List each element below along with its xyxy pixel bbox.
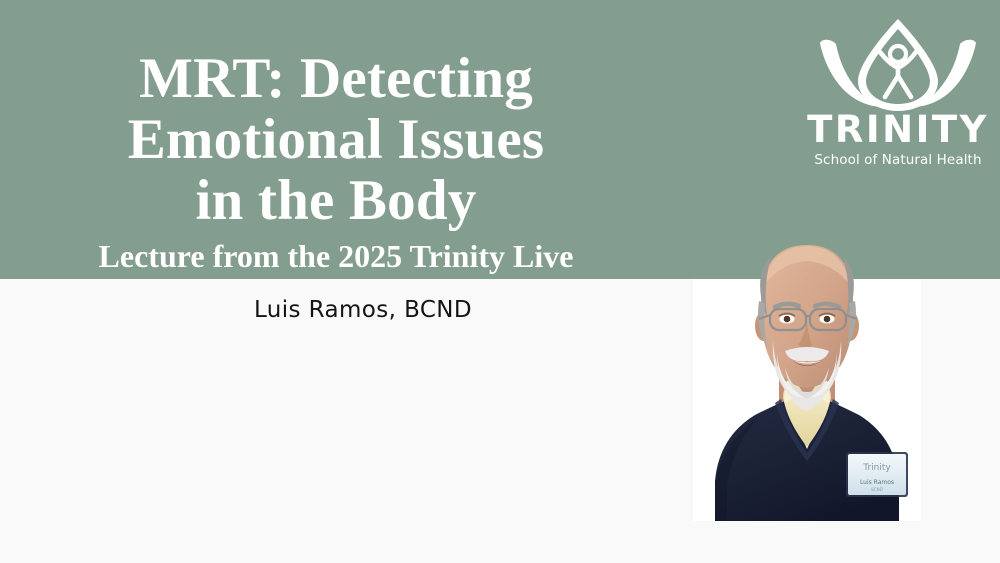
svg-text:BCND: BCND (871, 487, 883, 492)
logo-wordmark: TRINITY (806, 113, 990, 147)
svg-text:Luis Ramos: Luis Ramos (860, 479, 894, 486)
svg-text:Trinity: Trinity (862, 463, 891, 473)
subtitle: Lecture from the 2025 Trinity Live (0, 237, 672, 275)
title-line-2: Emotional Issues (0, 109, 672, 170)
portrait-illustration: Trinity Luis Ramos BCND (693, 223, 921, 521)
title-line-3: in the Body (0, 170, 672, 231)
presenter-name: Luis Ramos, BCND (0, 297, 726, 323)
title-line-1: MRT: Detecting (0, 48, 672, 109)
name-badge: Trinity Luis Ramos BCND (846, 452, 908, 497)
presenter-portrait-photo: Trinity Luis Ramos BCND (693, 223, 921, 521)
title-block: MRT: Detecting Emotional Issues in the B… (0, 48, 672, 275)
logo-tagline: School of Natural Health (806, 152, 990, 168)
presentation-slide: MRT: Detecting Emotional Issues in the B… (0, 0, 1000, 563)
trinity-logo: TRINITY School of Natural Health (806, 16, 990, 168)
trinity-lotus-droplet-figure-icon (806, 16, 990, 112)
